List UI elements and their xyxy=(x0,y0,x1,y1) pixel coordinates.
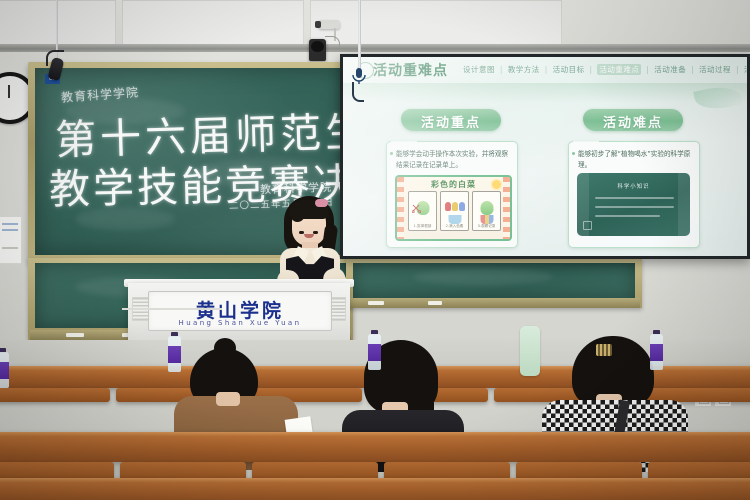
step-3-caption: 3.观察记录 xyxy=(473,224,500,229)
left-card-text: 能够学会动手操作本次实验，并将观察结果记录在记录单上。 xyxy=(396,149,510,171)
projection-screen: 活动重难点 设计意图 | 教学方法 | 活动目标 | 活动重难点 | 活动准备 … xyxy=(340,54,750,259)
hanging-microphone-rod xyxy=(358,0,361,72)
sun-icon xyxy=(492,180,501,189)
slide-surface: 活动重难点 设计意图 | 教学方法 | 活动目标 | 活动重难点 | 活动准备 … xyxy=(343,57,747,256)
podium: 黄山学院 Huang Shan Xue Yuan xyxy=(128,283,350,345)
illustration-step-1: 1.剪掉根部 xyxy=(408,191,437,231)
slide-header: 活动重难点 设计意图 | 教学方法 | 活动目标 | 活动重难点 | 活动准备 … xyxy=(343,57,747,83)
security-camera-icon xyxy=(318,20,340,29)
bullet-icon-right xyxy=(572,152,575,155)
right-card-text: 能够初步了解“植物喝水”实验的科学原理。 xyxy=(578,149,692,171)
dye-drop-icon-b xyxy=(452,202,458,211)
nav-sep-4: | xyxy=(691,65,694,74)
embedded-video[interactable]: 科学小知识 xyxy=(577,173,690,236)
nav-sep-5: | xyxy=(736,65,739,74)
nav-item-4[interactable]: 活动准备 xyxy=(654,65,686,74)
speaker-wire xyxy=(325,36,340,47)
nav-sep-2: | xyxy=(590,65,593,74)
nav-sep-3: | xyxy=(646,65,649,74)
left-banner: 活动重点 xyxy=(401,109,501,131)
illustration-step-3: 3.观察记录 xyxy=(472,191,501,231)
presenter-hair-bow xyxy=(315,199,328,207)
wall-notice-poster xyxy=(0,216,22,264)
right-banner: 活动难点 xyxy=(583,109,683,131)
ceiling-rail xyxy=(0,44,750,52)
note-icon xyxy=(583,221,592,230)
nav-sep-0: | xyxy=(500,65,503,74)
nav-item-0[interactable]: 设计意图 xyxy=(463,65,495,74)
water-bottle-icon-1 xyxy=(0,348,9,388)
side-equipment-panel xyxy=(122,308,222,310)
bullet-icon-left xyxy=(390,152,393,155)
classroom-photo: GB 教育科学学院 第十六届师范生 教学技能竞赛决赛 教育科学学院 二〇二五年五… xyxy=(0,0,750,500)
step-1-caption: 1.剪掉根部 xyxy=(409,224,436,229)
cabbage-icon-2 xyxy=(480,201,493,215)
desk-row-near xyxy=(0,478,750,500)
water-bottle-icon-2 xyxy=(168,332,181,372)
slide-header-band xyxy=(343,83,747,103)
seat-back-far-1 xyxy=(0,388,110,402)
university-name-pinyin: Huang Shan Xue Yuan xyxy=(149,319,331,327)
slide-title: 活动重难点 xyxy=(373,60,448,80)
slide-nav: 设计意图 | 教学方法 | 活动目标 | 活动重难点 | 活动准备 | 活动过程… xyxy=(463,64,743,75)
thermos-bottle-icon xyxy=(520,326,540,376)
blackboard-lower-surface-right xyxy=(353,263,635,298)
audience-1-neck xyxy=(216,392,240,406)
video-title: 科学小知识 xyxy=(577,182,690,190)
podium-nameplate: 黄山学院 Huang Shan Xue Yuan xyxy=(148,291,332,331)
step-2-caption: 2.滴入色素 xyxy=(441,224,468,229)
dye-drop-icon-a xyxy=(445,202,451,211)
audience-3-hair-clip-icon xyxy=(596,344,612,356)
right-card: 能够初步了解“植物喝水”实验的科学原理。 科学小知识 xyxy=(568,141,700,248)
right-banner-label: 活动难点 xyxy=(583,112,683,131)
wall-speaker-icon xyxy=(309,39,326,61)
ceiling-panel-right xyxy=(310,0,562,46)
cup-icon xyxy=(448,215,461,224)
desk-row-mid xyxy=(0,432,750,462)
nav-item-3[interactable]: 活动重难点 xyxy=(597,64,641,75)
water-bottle-icon-4 xyxy=(650,330,663,370)
blackboard-lower-panel-right xyxy=(346,258,642,308)
presenter-fringe-side xyxy=(291,205,305,222)
dye-drop-icon-c xyxy=(459,202,465,211)
left-banner-label: 活动重点 xyxy=(401,112,501,131)
scissors-icon xyxy=(412,204,421,213)
cabbage-illustration: 彩色的白菜 1.剪掉根部 xyxy=(395,175,512,241)
water-bottle-icon-3 xyxy=(368,330,381,370)
nav-item-6[interactable]: 活动延伸 xyxy=(744,65,747,74)
colored-cup-icon xyxy=(480,215,493,224)
ceiling-panel-mid xyxy=(122,0,304,46)
nav-item-5[interactable]: 活动过程 xyxy=(699,65,731,74)
microphone-gooseneck xyxy=(352,82,364,102)
nav-item-1[interactable]: 教学方法 xyxy=(508,65,540,74)
left-card: 能够学会动手操作本次实验，并将观察结果记录在记录单上。 彩色的白菜 xyxy=(386,141,518,248)
chalk-tray-right xyxy=(348,298,640,308)
illustration-step-2: 2.滴入色素 xyxy=(440,191,469,231)
nav-sep-1: | xyxy=(545,65,548,74)
nav-item-2[interactable]: 活动目标 xyxy=(553,65,585,74)
